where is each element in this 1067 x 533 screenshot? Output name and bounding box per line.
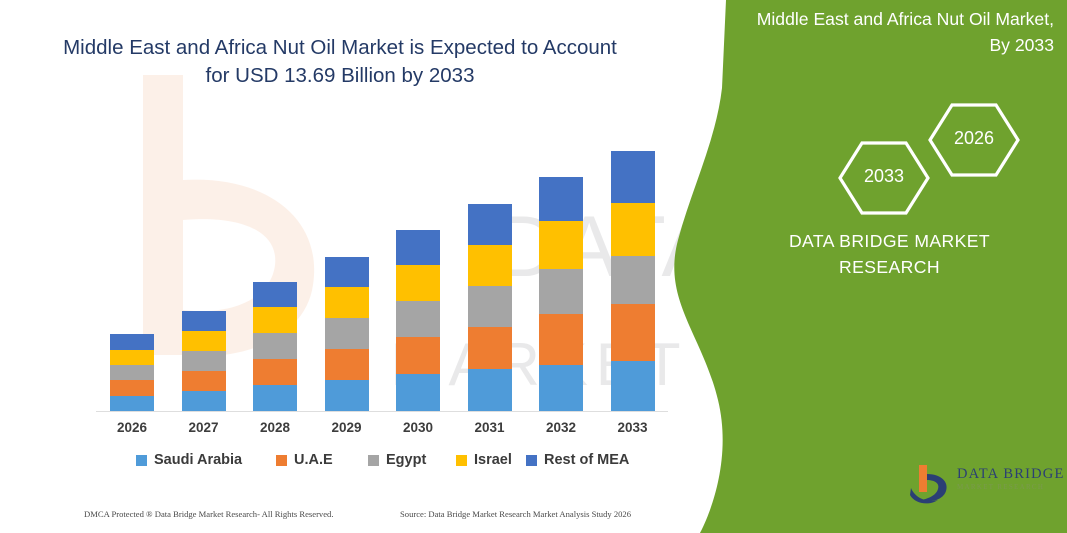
- bar-segment-2031-saudi-arabia: [468, 369, 512, 412]
- bar-segment-2027-israel: [182, 331, 226, 351]
- bar-segment-2030-u-a-e: [396, 337, 440, 374]
- hexagon-2026-label: 2026: [934, 128, 1014, 149]
- legend-swatch-icon: [368, 455, 379, 466]
- bar-segment-2033-egypt: [611, 256, 655, 304]
- bar-column-2028: [253, 282, 297, 412]
- chart-legend: Saudi ArabiaU.A.EEgyptIsraelRest of MEA: [96, 452, 668, 478]
- green-panel-brand-line-2: RESEARCH: [712, 254, 1067, 280]
- legend-item-saudi-arabia[interactable]: Saudi Arabia: [136, 452, 242, 468]
- hexagon-2033-label: 2033: [844, 166, 924, 187]
- bar-segment-2032-egypt: [539, 269, 583, 314]
- legend-swatch-icon: [526, 455, 537, 466]
- bar-segment-2029-u-a-e: [325, 349, 369, 380]
- bar-column-2027: [182, 311, 226, 412]
- hexagons-svg: [712, 95, 1067, 230]
- legend-item-israel[interactable]: Israel: [456, 452, 512, 468]
- chart-title-line-1: Middle East and Africa Nut Oil Market is…: [63, 36, 617, 59]
- bar-segment-2029-rest-of-mea: [325, 257, 369, 287]
- bar-segment-2026-u-a-e: [110, 380, 154, 396]
- bar-segment-2026-rest-of-mea: [110, 334, 154, 350]
- bar-segment-2028-egypt: [253, 333, 297, 359]
- bar-segment-2032-israel: [539, 221, 583, 269]
- bar-segment-2029-egypt: [325, 318, 369, 349]
- legend-item-u-a-e[interactable]: U.A.E: [276, 452, 333, 468]
- legend-label: Saudi Arabia: [154, 452, 242, 468]
- logo-subtitle-text: MARKET RESEARCH: [957, 483, 1044, 491]
- bar-column-2026: [110, 334, 154, 412]
- bar-segment-2032-saudi-arabia: [539, 365, 583, 412]
- bar-segment-2027-u-a-e: [182, 371, 226, 391]
- bar-column-2033: [611, 151, 655, 412]
- legend-swatch-icon: [136, 455, 147, 466]
- x-tick-2033: 2033: [603, 420, 663, 435]
- green-panel-brand: DATA BRIDGE MARKET RESEARCH: [712, 228, 1067, 281]
- green-panel-title-line-1: Middle East and Africa Nut Oil Market,: [724, 6, 1054, 32]
- bar-segment-2033-israel: [611, 203, 655, 256]
- x-axis-tick-labels: 20262027202820292030203120322033: [96, 420, 668, 444]
- hexagon-group: 2026 2033: [712, 95, 1067, 230]
- x-tick-2029: 2029: [317, 420, 377, 435]
- bar-segment-2030-rest-of-mea: [396, 230, 440, 265]
- bar-segment-2026-saudi-arabia: [110, 396, 154, 412]
- bar-column-2030: [396, 230, 440, 412]
- legend-label: Rest of MEA: [544, 452, 629, 468]
- bar-segment-2033-rest-of-mea: [611, 151, 655, 203]
- bar-segment-2026-israel: [110, 350, 154, 365]
- legend-label: U.A.E: [294, 452, 333, 468]
- footer: DMCA Protected ® Data Bridge Market Rese…: [0, 506, 700, 528]
- legend-swatch-icon: [276, 455, 287, 466]
- bar-segment-2028-israel: [253, 307, 297, 333]
- bar-segment-2032-rest-of-mea: [539, 177, 583, 221]
- bar-segment-2027-egypt: [182, 351, 226, 371]
- green-panel-title: Middle East and Africa Nut Oil Market, B…: [724, 6, 1064, 59]
- bar-segment-2032-u-a-e: [539, 314, 583, 365]
- green-panel-title-line-2: By 2033: [724, 32, 1054, 58]
- bar-column-2032: [539, 177, 583, 412]
- bar-segment-2031-israel: [468, 245, 512, 286]
- bar-column-2031: [468, 204, 512, 412]
- bar-segment-2026-egypt: [110, 365, 154, 380]
- bar-segment-2031-u-a-e: [468, 327, 512, 369]
- footer-source-text: Source: Data Bridge Market Research Mark…: [400, 509, 631, 519]
- bar-segment-2029-israel: [325, 287, 369, 318]
- chart-title-line-2: for USD 13.69 Billion by 2033: [206, 64, 475, 87]
- bar-segment-2030-israel: [396, 265, 440, 301]
- chart-pane: Middle East and Africa Nut Oil Market is…: [0, 0, 700, 533]
- legend-item-egypt[interactable]: Egypt: [368, 452, 426, 468]
- bar-segment-2028-u-a-e: [253, 359, 297, 385]
- bar-segment-2031-egypt: [468, 286, 512, 327]
- legend-swatch-icon: [456, 455, 467, 466]
- data-bridge-mark-icon: [905, 462, 953, 506]
- bar-segment-2033-u-a-e: [611, 304, 655, 361]
- green-panel-content: Middle East and Africa Nut Oil Market, B…: [712, 0, 1067, 533]
- legend-label: Egypt: [386, 452, 426, 468]
- x-tick-2026: 2026: [102, 420, 162, 435]
- bar-segment-2031-rest-of-mea: [468, 204, 512, 245]
- footer-dmca-text: DMCA Protected ® Data Bridge Market Rese…: [84, 509, 334, 519]
- bar-segment-2027-rest-of-mea: [182, 311, 226, 331]
- x-axis-line: [96, 411, 668, 412]
- x-tick-2028: 2028: [245, 420, 305, 435]
- x-tick-2027: 2027: [174, 420, 234, 435]
- bar-segment-2029-saudi-arabia: [325, 380, 369, 412]
- green-panel-brand-line-1: DATA BRIDGE MARKET: [712, 228, 1067, 254]
- x-tick-2030: 2030: [388, 420, 448, 435]
- bar-segment-2030-saudi-arabia: [396, 374, 440, 412]
- x-tick-2031: 2031: [460, 420, 520, 435]
- bar-column-2029: [325, 257, 369, 412]
- legend-item-rest-of-mea[interactable]: Rest of MEA: [526, 452, 629, 468]
- bar-segment-2028-rest-of-mea: [253, 282, 297, 307]
- data-bridge-logo: DATA BRIDGE MARKET RESEARCH: [905, 462, 1055, 508]
- legend-label: Israel: [474, 452, 512, 468]
- logo-title-text: DATA BRIDGE: [957, 466, 1065, 483]
- chart-title: Middle East and Africa Nut Oil Market is…: [60, 34, 620, 91]
- bar-segment-2027-saudi-arabia: [182, 391, 226, 412]
- stacked-bar-chart-plot-area: [96, 120, 666, 412]
- bar-segment-2030-egypt: [396, 301, 440, 337]
- bar-segment-2028-saudi-arabia: [253, 385, 297, 412]
- infographic-root: DATA BRIDGE MARKET RESEARCH Middle East …: [0, 0, 1067, 533]
- x-tick-2032: 2032: [531, 420, 591, 435]
- bar-segment-2033-saudi-arabia: [611, 361, 655, 412]
